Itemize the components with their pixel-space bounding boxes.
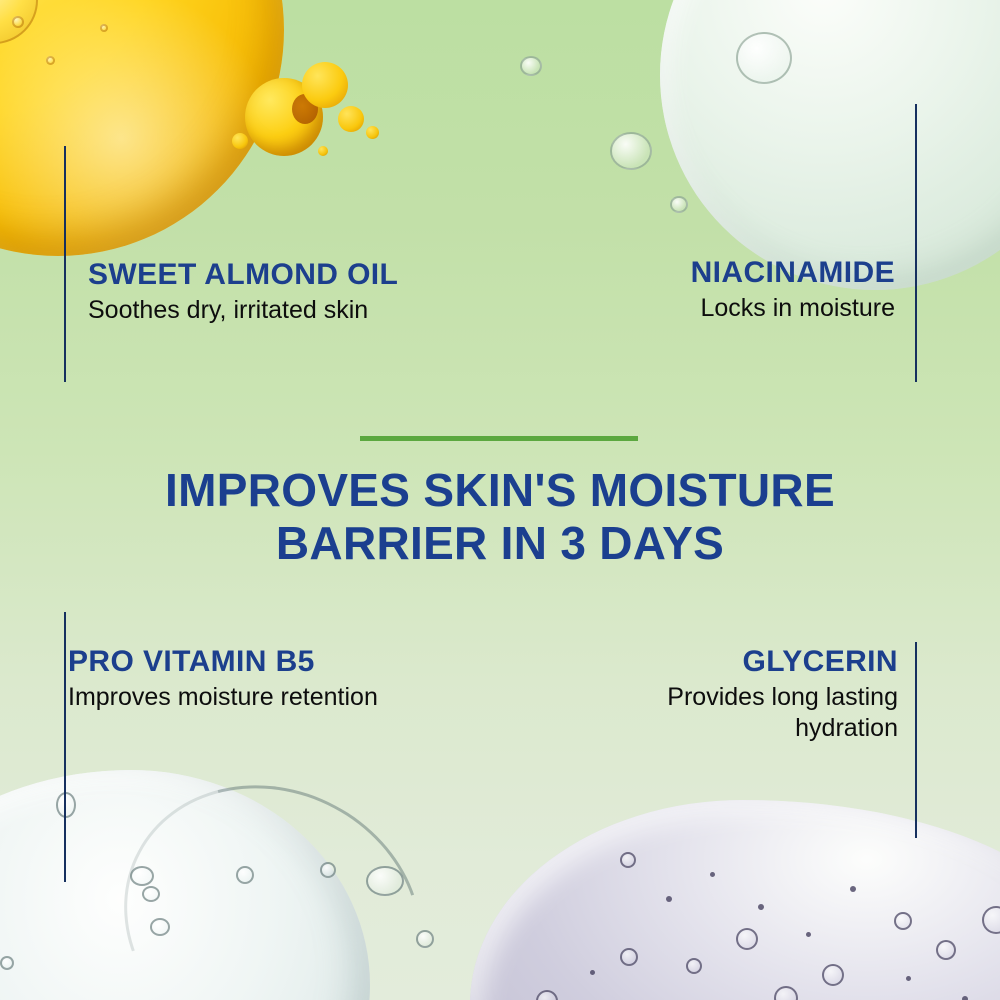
ingredient-callout-pro-vitamin-b5: PRO VITAMIN B5 Improves moisture retenti…: [68, 645, 378, 713]
callout-rule-pro-vitamin-b5: [64, 612, 66, 882]
headline-line-2: BARRIER IN 3 DAYS: [0, 517, 1000, 570]
callout-rule-glycerin: [915, 642, 917, 838]
callout-rule-sweet-almond-oil: [64, 146, 66, 382]
infographic-canvas: SWEET ALMOND OIL Soothes dry, irritated …: [0, 0, 1000, 1000]
ingredient-callout-glycerin: GLYCERIN Provides long lasting hydration: [560, 645, 898, 744]
headline-line-1: IMPROVES SKIN'S MOISTURE: [165, 464, 835, 516]
ingredient-title: GLYCERIN: [560, 645, 898, 679]
headline-accent-bar: [360, 436, 638, 441]
ingredient-description: Improves moisture retention: [68, 682, 378, 713]
ingredient-callout-niacinamide: NIACINAMIDE Locks in moisture: [555, 256, 895, 324]
ingredient-title: SWEET ALMOND OIL: [88, 258, 398, 292]
ingredient-description: Provides long lasting hydration: [560, 682, 898, 744]
headline: IMPROVES SKIN'S MOISTURE BARRIER IN 3 DA…: [0, 464, 1000, 570]
ingredient-description: Soothes dry, irritated skin: [88, 295, 398, 326]
ingredient-title: NIACINAMIDE: [555, 256, 895, 290]
callout-rule-niacinamide: [915, 104, 917, 382]
ingredient-callout-sweet-almond-oil: SWEET ALMOND OIL Soothes dry, irritated …: [88, 258, 398, 326]
ingredient-title: PRO VITAMIN B5: [68, 645, 378, 679]
ingredient-description: Locks in moisture: [555, 293, 895, 324]
